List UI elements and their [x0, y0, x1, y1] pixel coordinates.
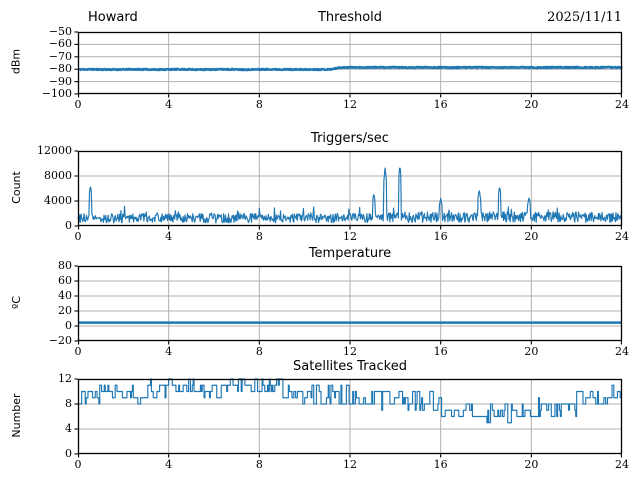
x-tick-label: 4 — [149, 346, 189, 357]
y-tick-label: 0 — [65, 320, 72, 331]
y-tick-label: −20 — [49, 335, 72, 346]
x-tick-label: 8 — [239, 99, 279, 110]
x-tick-label: 0 — [58, 346, 98, 357]
x-tick-label: 4 — [149, 99, 189, 110]
x-tick-label: 16 — [421, 346, 461, 357]
panel-temperature: Temperature ºC −20020406080 04812162024 — [0, 246, 640, 346]
y-tick-label: 4 — [65, 423, 72, 434]
x-tick-label: 16 — [421, 99, 461, 110]
panel-satellites: Satellites Tracked Number 04812 04812162… — [0, 359, 640, 464]
panel-title-triggers: Triggers/sec — [78, 131, 622, 146]
y-tick-label: 0 — [65, 220, 72, 231]
x-tick-label: 24 — [602, 459, 640, 470]
xtick-labels-0: 04812162024 — [78, 99, 622, 113]
axis-label-y-0: dBm — [10, 21, 23, 103]
page-title: Threshold — [78, 10, 622, 25]
y-tick-label: 8000 — [44, 170, 72, 181]
x-tick-label: 8 — [239, 459, 279, 470]
x-tick-label: 4 — [149, 459, 189, 470]
x-tick-label: 24 — [602, 346, 640, 357]
y-tick-label: 0 — [65, 448, 72, 459]
y-tick-label: 8 — [65, 398, 72, 409]
x-tick-label: 8 — [239, 346, 279, 357]
y-tick-label: 80 — [58, 260, 72, 271]
x-tick-label: 20 — [511, 459, 551, 470]
axis-label-y-2: ºC — [10, 255, 23, 350]
y-tick-label: −100 — [42, 88, 72, 99]
plot-area-temperature — [78, 266, 622, 341]
x-tick-label: 20 — [511, 346, 551, 357]
y-tick-label: −90 — [49, 76, 72, 87]
panel-triggers: Triggers/sec Count 04000800012000 048121… — [0, 131, 640, 231]
x-tick-label: 16 — [421, 459, 461, 470]
axis-label-y-3: Number — [10, 368, 23, 463]
panel-title-satellites: Satellites Tracked — [78, 359, 622, 374]
date-label: 2025/11/11 — [547, 10, 622, 25]
x-tick-label: 0 — [58, 459, 98, 470]
y-tick-label: −70 — [49, 51, 72, 62]
x-tick-label: 0 — [58, 99, 98, 110]
y-tick-label: 40 — [58, 290, 72, 301]
x-tick-label: 20 — [511, 99, 551, 110]
y-tick-label: 12000 — [37, 145, 72, 156]
xtick-labels-1: 04812162024 — [78, 231, 622, 245]
figure-canvas: Howard Threshold 2025/11/11 dBm −100−90−… — [0, 0, 640, 480]
panel-threshold: dBm −100−90−80−70−60−50 04812162024 — [0, 26, 640, 126]
x-tick-label: 20 — [511, 231, 551, 242]
x-tick-label: 24 — [602, 231, 640, 242]
plot-svg-3 — [78, 379, 622, 454]
plot-svg-0 — [78, 32, 622, 94]
y-tick-label: −80 — [49, 63, 72, 74]
x-tick-label: 8 — [239, 231, 279, 242]
y-tick-label: 4000 — [44, 195, 72, 206]
plot-svg-2 — [78, 266, 622, 341]
xtick-labels-2: 04812162024 — [78, 346, 622, 360]
x-tick-label: 12 — [330, 99, 370, 110]
x-tick-label: 16 — [421, 231, 461, 242]
y-tick-label: 20 — [58, 305, 72, 316]
panel-title-temperature: Temperature — [78, 246, 622, 261]
plot-area-triggers — [78, 151, 622, 226]
x-tick-label: 24 — [602, 99, 640, 110]
y-tick-label: 60 — [58, 275, 72, 286]
x-tick-label: 4 — [149, 231, 189, 242]
axis-label-y-1: Count — [10, 140, 23, 235]
plot-area-satellites — [78, 379, 622, 454]
y-tick-label: −60 — [49, 38, 72, 49]
x-tick-label: 12 — [330, 346, 370, 357]
y-tick-label: −50 — [49, 26, 72, 37]
plot-area-threshold — [78, 32, 622, 94]
xtick-labels-3: 04812162024 — [78, 459, 622, 473]
x-tick-label: 0 — [58, 231, 98, 242]
x-tick-label: 12 — [330, 231, 370, 242]
y-tick-label: 12 — [58, 373, 72, 384]
plot-svg-1 — [78, 151, 622, 226]
x-tick-label: 12 — [330, 459, 370, 470]
